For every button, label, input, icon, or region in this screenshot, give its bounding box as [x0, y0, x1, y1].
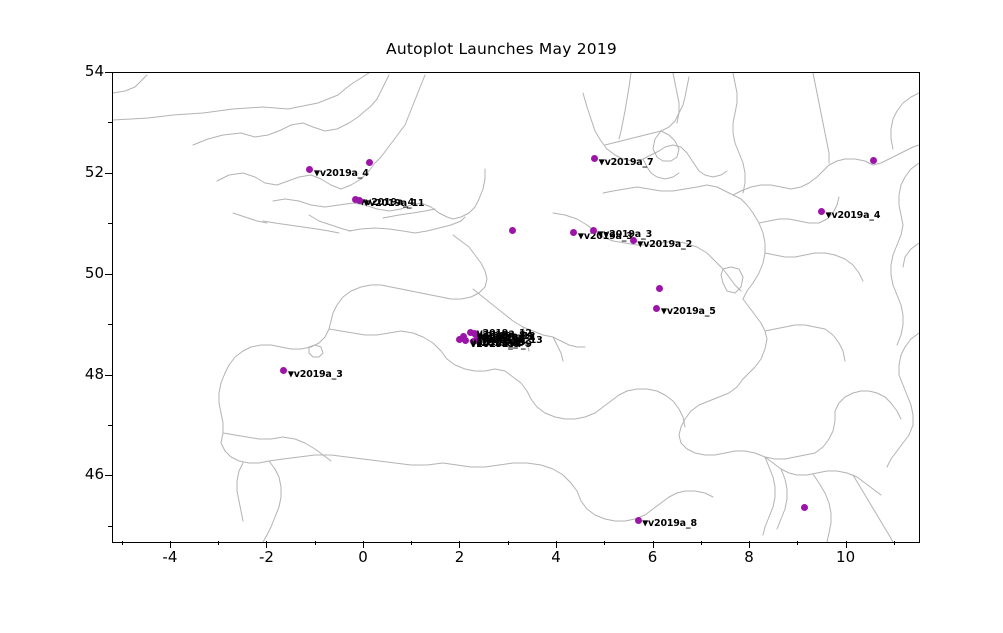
x-tick-major [556, 541, 557, 548]
launch-marker-label-overlay: v2019a_6 [470, 340, 519, 350]
basemap-coastlines [113, 73, 919, 542]
x-tick-minor [218, 541, 219, 545]
x-tick-label: 2 [455, 548, 465, 566]
launch-marker-label: ▼v2019a_7 [599, 158, 654, 168]
x-tick-label: 0 [358, 548, 368, 566]
launch-marker-label: ▼v2019a_3 [597, 230, 652, 240]
x-tick-label: -4 [162, 548, 177, 566]
x-tick-minor [508, 541, 509, 545]
x-tick-major [749, 541, 750, 548]
x-tick-minor [894, 541, 895, 545]
launch-marker[interactable] [509, 227, 516, 234]
x-tick-minor [411, 541, 412, 545]
x-tick-minor [315, 541, 316, 545]
launch-marker-label: ▼v2019a_8 [642, 519, 697, 529]
x-tick-minor [122, 541, 123, 545]
y-tick-minor [108, 324, 112, 325]
x-tick-major [653, 541, 654, 548]
launch-marker-label: ▼v2019a_5 [661, 307, 716, 317]
y-tick-minor [108, 122, 112, 123]
launch-marker-label: ▼v2019a_3 [288, 370, 343, 380]
launch-marker[interactable] [635, 517, 642, 524]
x-axis-tick-labels: -4-20246810 [112, 548, 918, 578]
y-tick-minor [108, 223, 112, 224]
y-tick-label: 46 [85, 465, 104, 483]
page-title: Autoplot Launches May 2019 [0, 40, 1003, 58]
figure-canvas: Autoplot Launches May 2019 [0, 0, 1003, 633]
launch-marker[interactable] [462, 337, 469, 344]
x-tick-minor [604, 541, 605, 545]
y-tick-label: 52 [85, 163, 104, 181]
x-tick-label: 4 [551, 548, 561, 566]
y-tick-major [105, 72, 112, 73]
x-tick-label: 8 [744, 548, 754, 566]
y-tick-major [105, 375, 112, 376]
y-tick-label: 48 [85, 365, 104, 383]
y-tick-label: 54 [85, 62, 104, 80]
x-tick-major [459, 541, 460, 548]
launch-marker-label: ▼v2019a_4 [826, 211, 881, 221]
map-plot-area[interactable]: ▼v2019a_4▼v2019a_4▼v2019a_11▼v2019a_7▼v2… [112, 72, 920, 543]
x-tick-label: 6 [648, 548, 658, 566]
launch-marker-label: ▼v2019a_2 [637, 240, 692, 250]
launch-marker-label: ▼v2019a_11 [363, 199, 424, 209]
launch-marker-label: ▼v2019a_4 [314, 169, 369, 179]
x-tick-major [363, 541, 364, 548]
y-tick-major [105, 173, 112, 174]
x-tick-major [846, 541, 847, 548]
y-tick-major [105, 274, 112, 275]
x-tick-minor [701, 541, 702, 545]
y-tick-label: 50 [85, 264, 104, 282]
launch-marker[interactable] [356, 197, 363, 204]
y-tick-minor [108, 425, 112, 426]
launch-marker[interactable] [870, 157, 877, 164]
y-axis-tick-labels: 4648505254 [60, 72, 104, 541]
y-tick-minor [108, 526, 112, 527]
x-tick-label: 10 [836, 548, 855, 566]
x-tick-major [170, 541, 171, 548]
x-tick-label: -2 [259, 548, 274, 566]
x-tick-major [266, 541, 267, 548]
y-tick-major [105, 475, 112, 476]
y-axis-ticks [105, 72, 113, 542]
launch-marker[interactable] [653, 305, 660, 312]
x-tick-minor [797, 541, 798, 545]
